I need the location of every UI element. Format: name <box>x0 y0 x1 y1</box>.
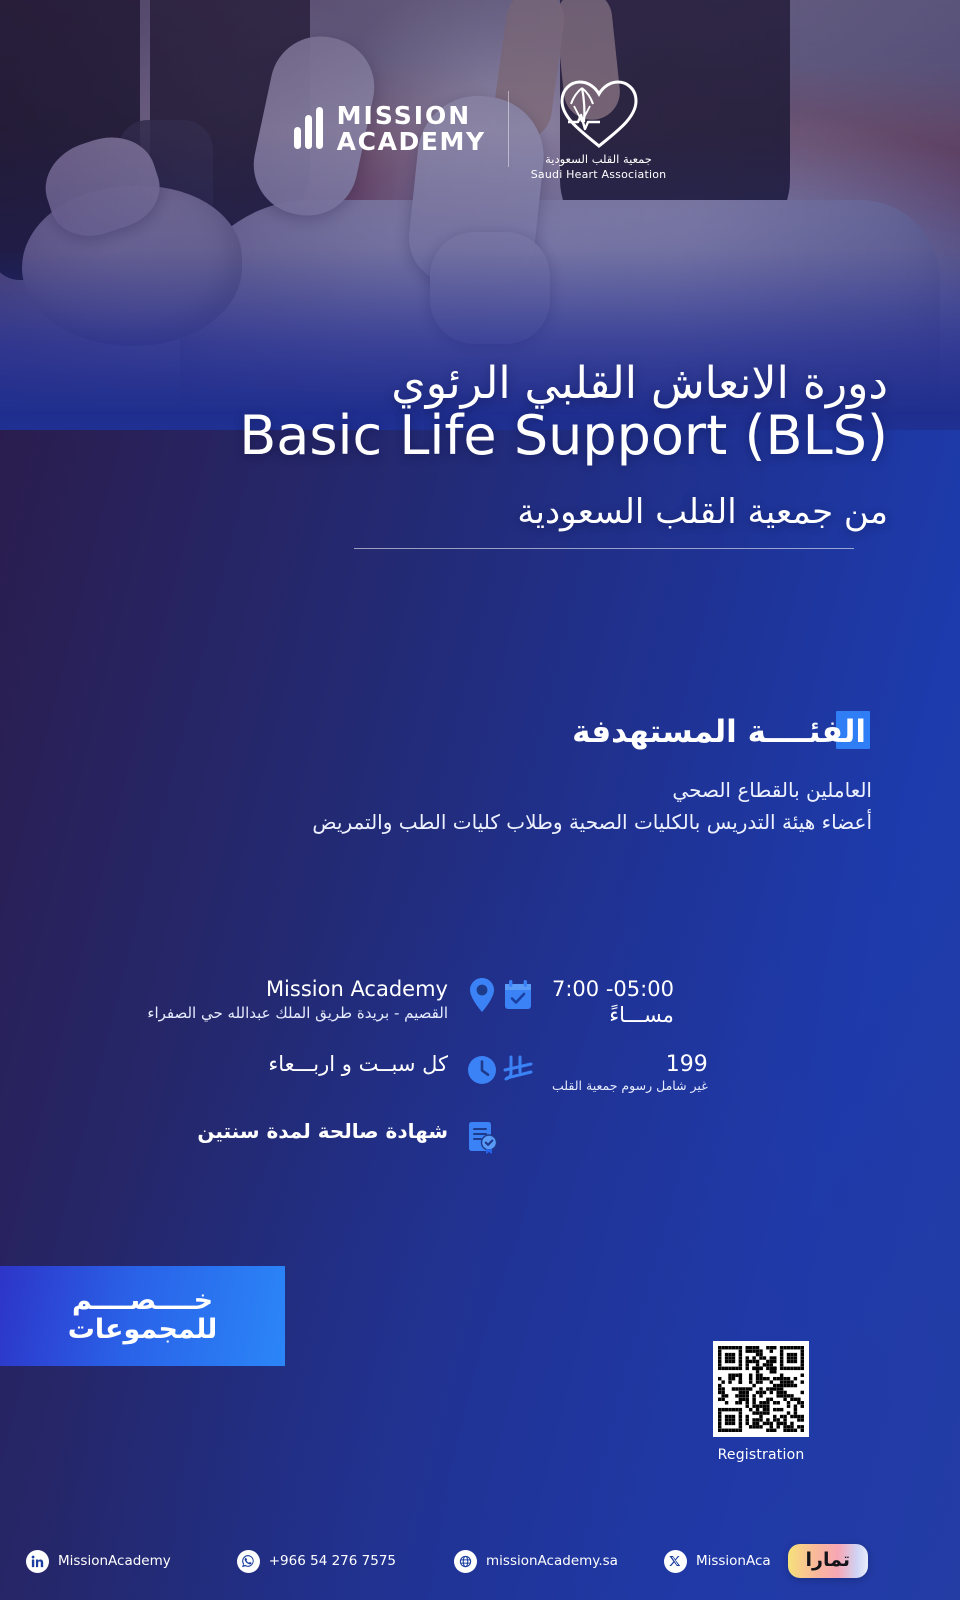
linkedin-icon <box>26 1550 49 1573</box>
detail-certificate: شهادة صالحة لمدة سنتين <box>110 1117 500 1157</box>
x-handle: MissionAca <box>696 1553 771 1569</box>
globe-icon <box>454 1550 477 1573</box>
mission-academy-logo: MISSION ACADEMY <box>294 103 486 154</box>
contact-whatsapp[interactable]: +966 54 276 7575 <box>237 1550 396 1573</box>
partner-name-arabic: جمعية القلب السعودية <box>545 152 652 166</box>
schedule-time: 7:00 -05:00 <box>552 977 674 1003</box>
mission-academy-bars-icon <box>294 109 323 149</box>
contact-website[interactable]: missionAcademy.sa <box>454 1550 618 1573</box>
detail-schedule: 7:00 -05:00 مســـاءً <box>500 975 860 1028</box>
partner-name-english: Saudi Heart Association <box>531 168 667 181</box>
schedule-period: مســـاءً <box>552 1003 674 1029</box>
target-audience-list: العاملين بالقطاع الصحي أعضاء هيئة التدري… <box>312 774 872 838</box>
saudi-heart-association-logo: جمعية القلب السعودية Saudi Heart Associa… <box>531 76 667 181</box>
detail-days: كل سبــت و اربـــعاء <box>110 1050 500 1090</box>
title-english: Basic Life Support (BLS) <box>0 406 888 466</box>
registration-qr-code[interactable] <box>713 1341 809 1437</box>
location-name: Mission Academy <box>147 977 448 1003</box>
audience-line-2: أعضاء هيئة التدريس بالكليات الصحية وطلاب… <box>312 806 872 838</box>
price-note: غير شامل رسوم جمعية القلب <box>552 1077 708 1095</box>
certificate-value: شهادة صالحة لمدة سنتين <box>197 1119 448 1143</box>
audience-line-1: العاملين بالقطاع الصحي <box>312 774 872 806</box>
target-audience-section: الفئــــة المستهدفة العاملين بالقطاع الص… <box>312 712 872 838</box>
calendar-check-icon <box>500 975 536 1015</box>
logo-divider <box>508 91 509 167</box>
footer-contact-bar: MissionAcademy +966 54 276 7575 missi <box>0 1522 960 1600</box>
location-text: Mission Academy القصيم - بريدة طريق المل… <box>147 975 448 1024</box>
certificate-icon <box>464 1117 500 1157</box>
registration-label: Registration <box>713 1447 809 1463</box>
details-row-1: 7:00 -05:00 مســـاءً <box>0 975 860 1028</box>
tamara-badge[interactable]: تمارا <box>788 1544 868 1578</box>
heart-palm-icon <box>552 76 646 150</box>
whatsapp-icon <box>237 1550 260 1573</box>
details-row-2: 199 غير شامل رسوم جمعية القلب <box>0 1050 860 1095</box>
discount-line-2: للمجموعات <box>68 1315 217 1345</box>
certificate-text: شهادة صالحة لمدة سنتين <box>197 1117 448 1143</box>
price-text: 199 غير شامل رسوم جمعية القلب <box>552 1050 708 1095</box>
detail-price: 199 غير شامل رسوم جمعية القلب <box>500 1050 860 1095</box>
logo-line-1: MISSION <box>337 103 486 129</box>
whatsapp-number: +966 54 276 7575 <box>269 1553 396 1569</box>
x-twitter-icon <box>664 1550 687 1573</box>
location-pin-icon <box>464 975 500 1015</box>
poster-root: MISSION ACADEMY جمعية القلب السعودية Sau… <box>0 0 960 1600</box>
course-details: 7:00 -05:00 مســـاءً <box>0 975 860 1179</box>
logo-bar: MISSION ACADEMY جمعية القلب السعودية Sau… <box>0 76 960 181</box>
days-text: كل سبــت و اربـــعاء <box>268 1050 448 1078</box>
target-audience-heading: الفئــــة المستهدفة <box>566 712 872 752</box>
group-discount-banner: خــــصــــم للمجموعات <box>0 1266 285 1366</box>
logo-line-2: ACADEMY <box>337 129 486 155</box>
poster-title-block: دورة الانعاش القلبي الرئوي Basic Life Su… <box>0 358 888 549</box>
mission-academy-wordmark: MISSION ACADEMY <box>337 103 486 154</box>
title-underline-rule <box>354 548 854 549</box>
contact-x-twitter[interactable]: MissionAca <box>664 1550 771 1573</box>
price-amount: 199 <box>552 1052 708 1077</box>
contact-linkedin[interactable]: MissionAcademy <box>26 1550 171 1573</box>
clock-icon <box>464 1050 500 1090</box>
days-value: كل سبــت و اربـــعاء <box>268 1052 448 1078</box>
details-row-3: شهادة صالحة لمدة سنتين <box>0 1117 860 1157</box>
location-address: القصيم - بريدة طريق الملك عبدالله حي الص… <box>147 1003 448 1024</box>
website-url: missionAcademy.sa <box>486 1553 618 1569</box>
saudi-riyal-icon <box>500 1050 536 1090</box>
target-audience-heading-text: الفئــــة المستهدفة <box>572 714 866 750</box>
schedule-text: 7:00 -05:00 مســـاءً <box>552 975 674 1028</box>
detail-location: Mission Academy القصيم - بريدة طريق المل… <box>110 975 500 1024</box>
discount-line-1: خــــصــــم <box>72 1286 213 1315</box>
registration-block[interactable]: Registration <box>713 1341 809 1463</box>
linkedin-handle: MissionAcademy <box>58 1553 171 1569</box>
title-arabic: دورة الانعاش القلبي الرئوي <box>0 358 888 410</box>
title-subtitle: من جمعية القلب السعودية <box>0 492 888 532</box>
